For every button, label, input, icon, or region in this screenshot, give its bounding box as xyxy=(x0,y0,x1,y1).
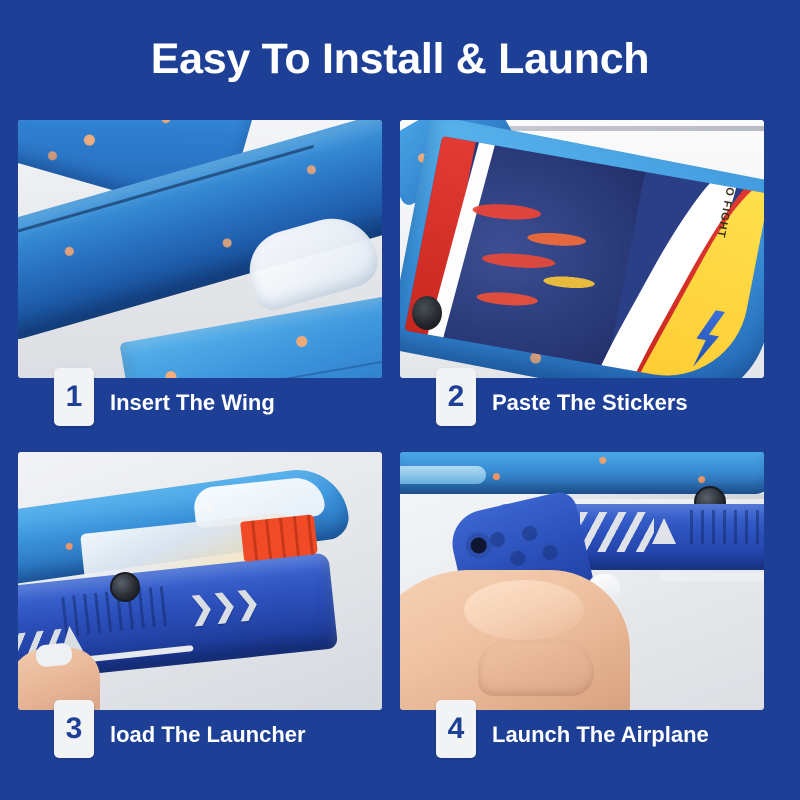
step-number-badge: 1 xyxy=(54,368,94,426)
airplane-canopy xyxy=(400,466,486,484)
index-finger xyxy=(478,640,594,696)
step-3-photo: ❯❯❯ xyxy=(18,452,382,710)
launcher-vent-lines xyxy=(690,510,764,544)
step-caption: Paste The Stickers xyxy=(492,390,688,416)
launcher-silver-stripes xyxy=(580,512,654,552)
decal-sticker: REQUEST TO FIGHT xyxy=(404,136,764,378)
wing-panel-line xyxy=(148,357,382,378)
step-caption: Insert The Wing xyxy=(110,390,275,416)
step-card-1: 1 Insert The Wing xyxy=(18,120,400,432)
step-number-badge: 2 xyxy=(436,368,476,426)
step-1-photo xyxy=(18,120,382,378)
chevron-arrows-icon: ❯❯❯ xyxy=(188,588,260,625)
launcher-rail-slot xyxy=(660,572,764,581)
step-card-4: 4 Launch The Airplane xyxy=(400,452,782,764)
step-1-caption-bar: 1 Insert The Wing xyxy=(18,382,382,428)
step-4-photo xyxy=(400,452,764,710)
launcher-rail xyxy=(540,494,764,499)
step-number-badge: 3 xyxy=(54,700,94,758)
step-caption: Launch The Airplane xyxy=(492,722,709,748)
user-hand xyxy=(400,570,630,710)
launcher-triangle-marking xyxy=(652,518,676,544)
step-caption: load The Launcher xyxy=(110,722,306,748)
flame-graphic xyxy=(437,175,650,338)
step-2-caption-bar: 2 Paste The Stickers xyxy=(400,382,764,428)
launcher-red-slide xyxy=(240,514,318,562)
step-3-caption-bar: 3 load The Launcher xyxy=(18,714,382,760)
infographic-page: Easy To Install & Launch 1 Insert The Wi… xyxy=(0,0,800,800)
step-2-photo: REQUEST TO FIGHT xyxy=(400,120,764,378)
step-number-badge: 4 xyxy=(436,700,476,758)
step-card-3: ❯❯❯ 3 load The Launcher xyxy=(18,452,400,764)
page-title: Easy To Install & Launch xyxy=(0,34,800,84)
step-4-caption-bar: 4 Launch The Airplane xyxy=(400,714,764,760)
landing-wheel xyxy=(412,296,442,330)
hand-knuckles xyxy=(464,580,584,640)
step-card-2: REQUEST TO FIGHT 2 Paste The Stickers xyxy=(400,120,782,432)
